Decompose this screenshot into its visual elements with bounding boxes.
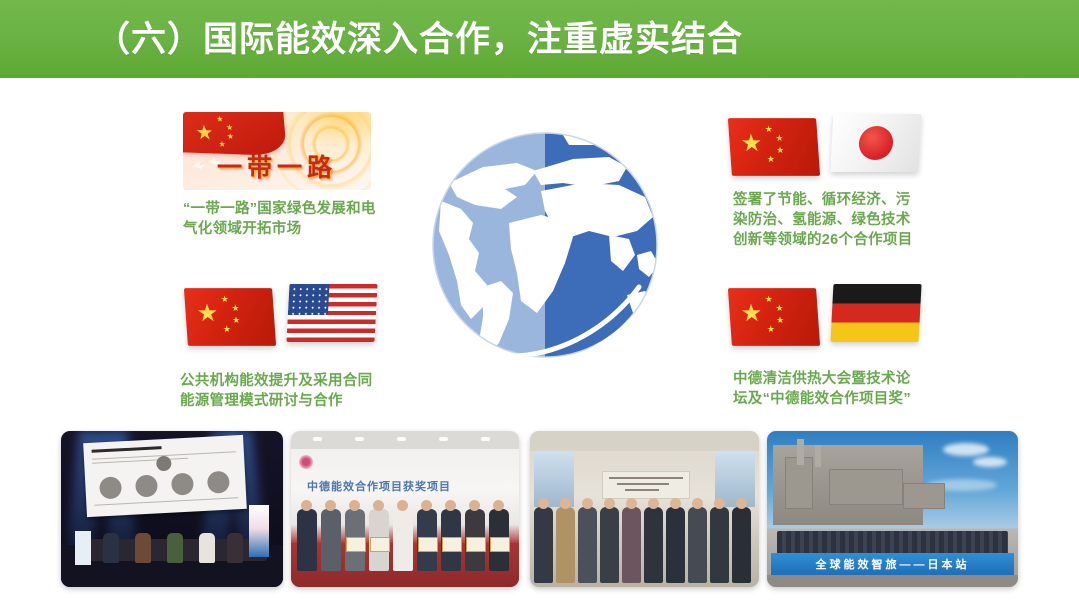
germany-flag-icon	[830, 284, 921, 342]
caption-china-usa: 公共机构能效提升及采用合同能源管理模式研讨与合作	[180, 371, 375, 411]
japan-flag-icon	[830, 114, 921, 172]
caption-china-germany: 中德清洁供热大会暨技术论坛及“中德能效合作项目奖”	[733, 369, 923, 409]
usa-flag-icon	[286, 284, 377, 342]
group-banner: 全球能效智旅——日本站	[771, 553, 1014, 575]
caption-china-japan: 签署了节能、循环经济、污染防治、氢能源、绿色技术创新等领域的26个合作项目	[733, 190, 923, 250]
group-banner-text: 全球能效智旅——日本站	[816, 556, 970, 572]
flag-pair-china-japan: ★★★ ★★	[730, 108, 920, 188]
china-flag-icon: ★★★ ★★	[184, 288, 276, 346]
photo-japan-site-visit: 全球能效智旅——日本站	[767, 431, 1018, 587]
projection-screen	[83, 435, 247, 517]
caption-belt-and-road: “一带一路”国家绿色发展和电气化领域开拓市场	[183, 199, 378, 239]
page-title: （六）国际能效深入合作，注重虚实结合	[95, 22, 743, 57]
photo-panel-conference	[61, 431, 283, 587]
world-globe-graphic	[413, 105, 678, 385]
globe-icon	[413, 105, 678, 385]
belt-and-road-banner-image: ★★★ ★★ 一带一路	[183, 112, 371, 190]
meeting-signboard	[602, 471, 690, 499]
photo-award-ceremony: 中德能效合作项目获奖项目	[291, 431, 519, 587]
flag-pair-china-usa: ★★★ ★★	[186, 278, 376, 358]
china-flag-icon: ★★★ ★★	[728, 118, 820, 176]
belt-and-road-title: 一带一路	[183, 148, 371, 184]
china-flag-icon: ★★★ ★★	[728, 288, 820, 346]
backdrop-text: 中德能效合作项目获奖项目	[307, 478, 451, 494]
flag-pair-china-germany: ★★★ ★★	[730, 278, 920, 358]
slide-title-banner: （六）国际能效深入合作，注重虚实结合	[0, 0, 1079, 78]
photo-meeting-group	[530, 431, 759, 587]
